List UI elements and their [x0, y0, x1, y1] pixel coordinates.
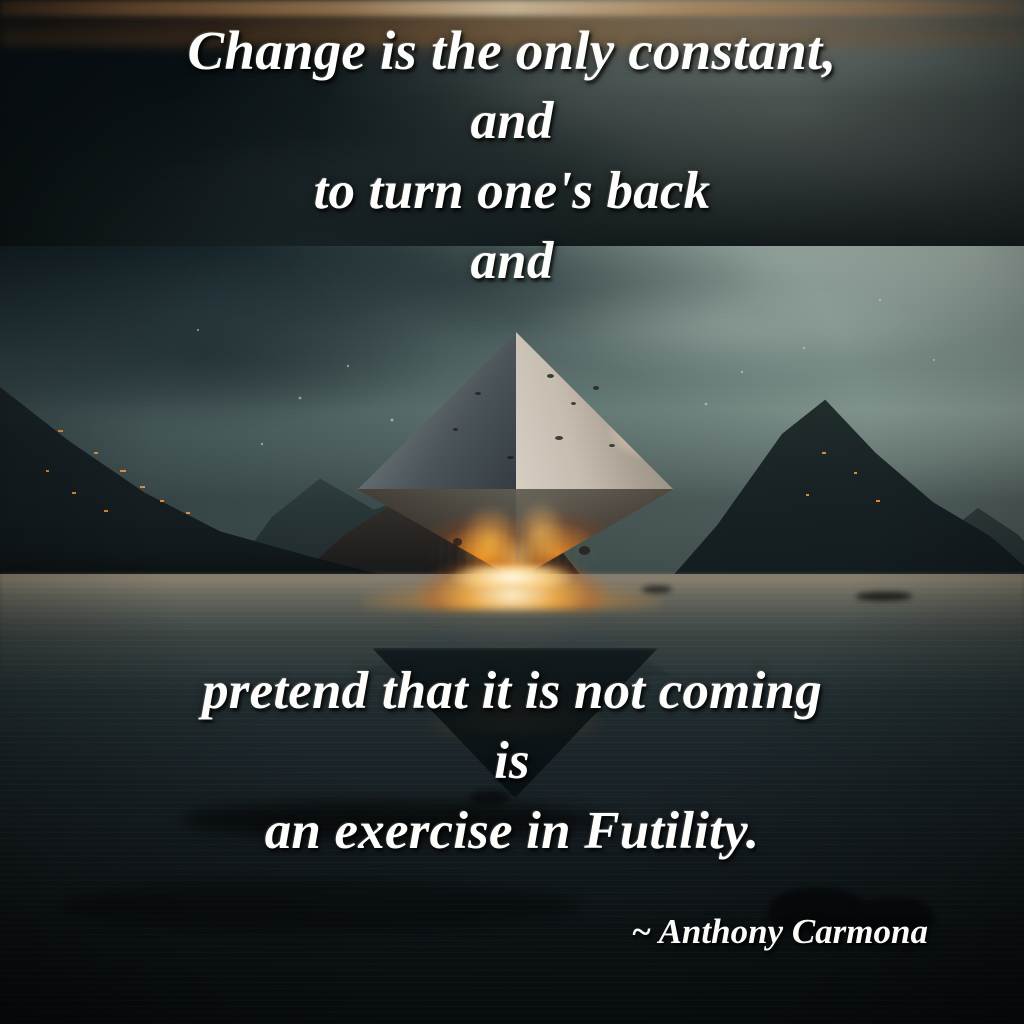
sand-ridge	[180, 800, 600, 840]
octahedron-face-top-left	[357, 332, 517, 490]
sand-ridge	[60, 880, 580, 932]
quote-image: Change is the only constant, and to turn…	[0, 0, 1024, 1024]
fire-core	[437, 566, 587, 588]
foreground-sand	[0, 0, 1024, 246]
octahedron-face-top-right	[516, 332, 674, 490]
